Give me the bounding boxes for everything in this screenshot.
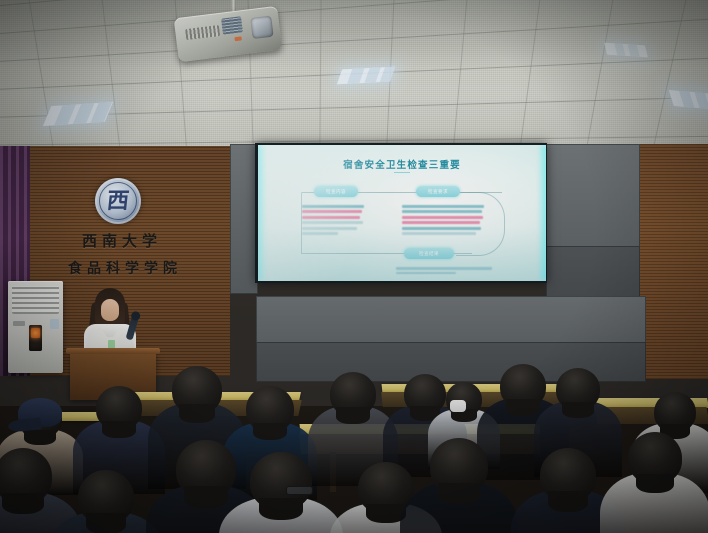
audience-member-head xyxy=(0,448,52,504)
slide-section-pill: 检查内容 xyxy=(314,186,358,197)
audience-member-head xyxy=(654,392,696,432)
microphone-head xyxy=(130,310,141,321)
slide-text-line xyxy=(402,216,483,219)
slide-section-pill: 检查结果 xyxy=(404,248,454,259)
slide-text-line xyxy=(396,272,456,275)
slide-text-line xyxy=(402,227,481,230)
slide-text-line xyxy=(302,210,362,213)
audience-member-nape xyxy=(2,493,44,514)
projector-lens xyxy=(250,16,273,39)
screen-edge-glow-right xyxy=(538,145,546,281)
slide-text-line xyxy=(402,232,476,235)
university-emblem: 西 xyxy=(95,178,141,224)
projector-grill xyxy=(221,16,243,34)
audience-member-nape xyxy=(506,399,539,416)
ac-logo xyxy=(13,321,25,326)
ac-display-icon[interactable] xyxy=(29,325,42,351)
slide-section-text xyxy=(402,205,484,237)
audience-member-nape xyxy=(636,474,675,494)
audience-member-nape xyxy=(562,402,594,418)
wall-panel-left xyxy=(230,144,258,294)
audience-member-head xyxy=(330,372,376,416)
slide-section-text xyxy=(396,267,492,276)
slide-text-line xyxy=(402,205,484,208)
slide-section-pill: 检查要求 xyxy=(416,186,460,197)
projection-screen: 宿舍安全卫生检查三重要 检查内容检查要求检查结果 xyxy=(258,145,546,281)
audience-member-head xyxy=(404,374,446,414)
ceiling xyxy=(0,0,708,152)
wall-text-college: 食品科学学院 xyxy=(68,258,182,278)
ac-vent-slats xyxy=(12,286,59,314)
audience-member-nape xyxy=(253,423,288,440)
slide-text-line xyxy=(302,205,364,208)
projector-led-icon xyxy=(234,36,241,41)
lecture-hall-photo: 西 西南大学 食品科学学院 宿舍安全卫生检查三重要 检查内容检查要求检查结果 xyxy=(0,0,708,533)
audience-member-head xyxy=(246,386,294,432)
audience-member-head xyxy=(628,432,682,484)
audience-member-head xyxy=(446,382,482,416)
slide-text-line xyxy=(302,216,360,219)
audience-member-head xyxy=(176,440,236,498)
audience-member-nape xyxy=(179,404,215,422)
audience-member-nape xyxy=(438,483,480,504)
ac-label-tag xyxy=(50,319,59,329)
baseball-cap xyxy=(18,398,62,438)
wood-wall-right xyxy=(640,144,708,379)
slide-text-line xyxy=(302,227,357,230)
audience-member-nape xyxy=(86,513,126,533)
wall-text-university: 西南大学 xyxy=(82,230,162,251)
slide-title-rule xyxy=(394,172,410,173)
emblem-mark: 西 xyxy=(106,190,130,212)
floor-air-conditioner[interactable] xyxy=(8,281,63,373)
audience-member-head xyxy=(500,364,546,408)
presenter-face xyxy=(101,299,119,321)
audience-member-nape xyxy=(548,491,588,512)
audience-member-head xyxy=(430,438,488,494)
audience-member-nape xyxy=(184,486,227,508)
audience-member-head xyxy=(18,398,62,438)
slide-title: 宿舍安全卫生检查三重要 xyxy=(258,157,546,171)
audience-member-head xyxy=(78,470,134,524)
audience-member-head xyxy=(556,368,600,410)
cap-brim xyxy=(8,417,43,432)
eyeglasses xyxy=(286,486,313,495)
audience-member-head xyxy=(250,452,312,510)
audience-member-nape xyxy=(336,407,369,424)
slide-text-line xyxy=(302,221,363,224)
audience-member-nape xyxy=(259,498,304,520)
audience-member-head xyxy=(96,386,142,430)
slide-text-line xyxy=(402,221,480,224)
screen-edge-glow-left xyxy=(258,145,266,281)
slide-text-line xyxy=(396,267,492,270)
ceiling-shading xyxy=(0,0,708,152)
slide-section-text xyxy=(302,205,364,237)
podium-top xyxy=(66,348,160,354)
slide-text-line xyxy=(302,232,338,235)
slide-text-line xyxy=(402,210,482,213)
audience-member-nape xyxy=(102,421,135,438)
face-mask xyxy=(450,400,467,412)
audience-member-head xyxy=(540,448,596,502)
audience-member-head xyxy=(172,366,222,414)
